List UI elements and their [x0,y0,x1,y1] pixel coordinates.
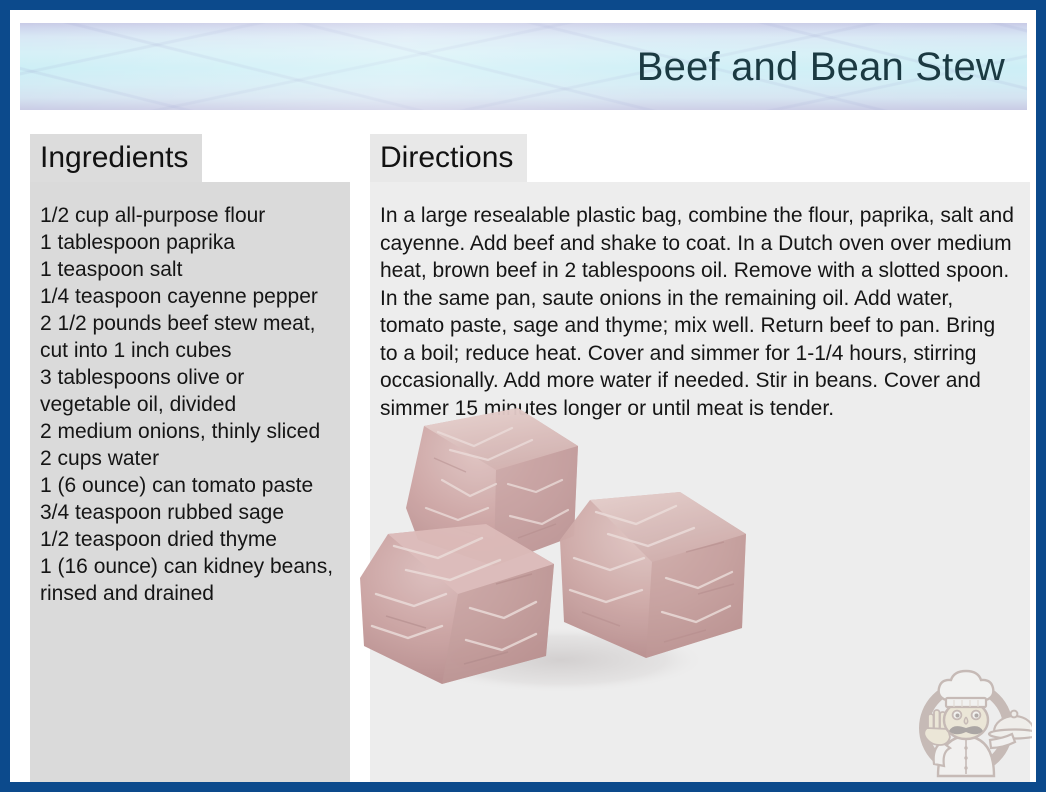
recipe-card: Beef and Bean Stew Ingredients 1/2 cup a… [0,0,1046,792]
ingredient-item: 1 teaspoon salt [40,256,336,283]
ingredient-item: 2 medium onions, thinly sliced [40,418,336,445]
ingredient-item: 1 (6 ounce) can tomato paste [40,472,336,499]
directions-heading-label: Directions [380,141,513,175]
directions-panel: In a large resealable plastic bag, combi… [370,182,1030,782]
ingredients-list: 1/2 cup all-purpose flour1 tablespoon pa… [40,202,336,607]
ingredient-item: 1 (16 ounce) can kidney beans, rinsed an… [40,553,336,607]
ingredient-item: 3/4 teaspoon rubbed sage [40,499,336,526]
ingredient-item: 2 cups water [40,445,336,472]
page-title: Beef and Bean Stew [637,47,1005,87]
ingredient-item: 3 tablespoons olive or vegetable oil, di… [40,364,336,418]
directions-body-text: In a large resealable plastic bag, combi… [380,202,1016,422]
recipe-banner: Beef and Bean Stew [20,23,1027,110]
directions-heading-tab: Directions [370,134,527,182]
ingredient-item: 1/2 cup all-purpose flour [40,202,336,229]
ingredient-item: 1 tablespoon paprika [40,229,336,256]
ingredients-panel: 1/2 cup all-purpose flour1 tablespoon pa… [30,182,350,782]
ingredient-item: 1/4 teaspoon cayenne pepper [40,283,336,310]
ingredient-item: 1/2 teaspoon dried thyme [40,526,336,553]
directions-column: Directions In a large resealable plastic… [370,134,1030,782]
ingredients-heading-label: Ingredients [40,141,188,175]
ingredients-column: Ingredients 1/2 cup all-purpose flour1 t… [30,134,350,782]
ingredient-item: 2 1/2 pounds beef stew meat, cut into 1 … [40,310,336,364]
ingredients-heading-tab: Ingredients [30,134,202,182]
